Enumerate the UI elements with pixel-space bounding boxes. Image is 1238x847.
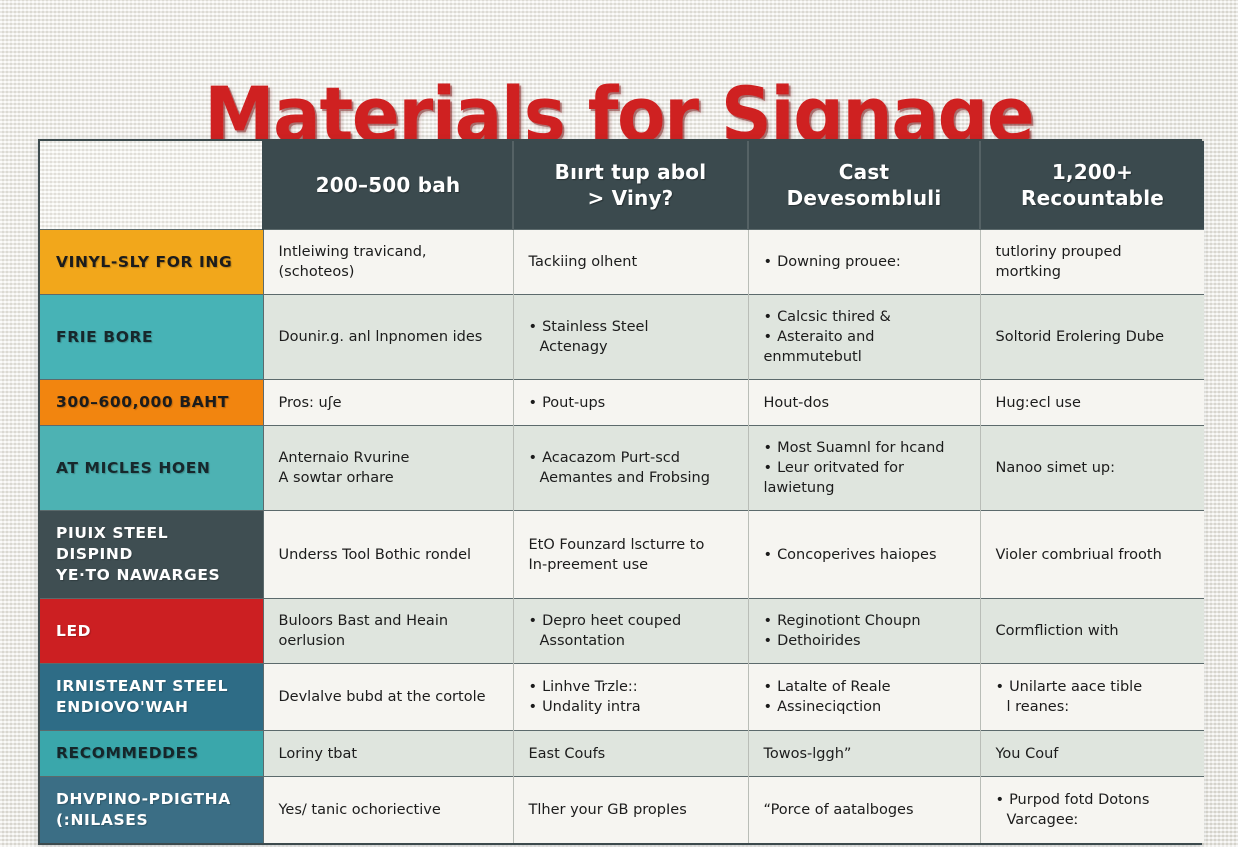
cell-text-line: Dethoirides xyxy=(764,631,965,651)
row-label-cell: LED xyxy=(40,599,263,664)
column-header-4-line-2: Recountable xyxy=(995,185,1190,211)
table-cell-r5-c1: Underss Tool Bothic rondel xyxy=(263,511,513,599)
column-header-2: Bıırt tup abol> Viny? xyxy=(513,141,748,230)
table-cell-r6-c3: Reginotiont ChoupnDethoirides xyxy=(748,599,980,664)
cell-text-line: Undality intra xyxy=(529,697,733,717)
cell-text-line: Loriny tbat xyxy=(279,744,498,764)
row-label-cell: VINYL-SLY FOR ING xyxy=(40,230,263,295)
cell-text-line: Buloors Bast and Heain xyxy=(279,611,498,631)
cell-text-line: Depro heet couped xyxy=(529,611,733,631)
cell-text-line: You Couf xyxy=(996,744,1190,764)
table-cell-r3-c3: Hout-dos xyxy=(748,380,980,426)
table-cell-r5-c3: Concoperives haiopes xyxy=(748,511,980,599)
column-header-4: 1,200+Recountable xyxy=(980,141,1204,230)
table-cell-r7-c3: Latalte of RealeAssineciqction xyxy=(748,664,980,731)
row-label-cell: FRIE BORE xyxy=(40,295,263,380)
row-label-line: ENDIOVO'WAH xyxy=(56,697,247,718)
table-row[interactable]: AT MICLES HOENAnternaio RvurineA sowtar … xyxy=(40,426,1204,511)
cell-text-line: East Coufs xyxy=(529,744,733,764)
table-cell-r8-c3: Towos-lggh” xyxy=(748,731,980,777)
table-row[interactable]: 300–600,000 BAHTPros: uʃePout-upsHout-do… xyxy=(40,380,1204,426)
column-header-3-line-1: Cast xyxy=(763,159,965,185)
cell-text-line: Intleiwing travicand, xyxy=(279,242,498,262)
cell-text-line: Calcsic thired & xyxy=(764,307,965,327)
cell-text-line: Іn-preement use xyxy=(529,555,733,575)
table-cell-r4-c3: Most Suamnl for hcandLeur oritvated for … xyxy=(748,426,980,511)
table-cell-r9-c2: Tlher your GB propIes xyxy=(513,777,748,844)
cell-text-line: Devlalve bubd at the cortole xyxy=(279,687,498,707)
table-cell-r6-c4: Cormfliction with xyxy=(980,599,1204,664)
cell-text-line: Aemantes and Frobsing xyxy=(529,468,733,488)
cell-text-line: EtO Founzard lscturre to xyxy=(529,535,733,555)
table-cell-r7-c4: Unilarte aace tiblel reanes: xyxy=(980,664,1204,731)
column-header-2-line-1: Bıırt tup abol xyxy=(528,159,733,185)
row-label-cell: IRNISTEANT STEELENDIOVO'WAH xyxy=(40,664,263,731)
table-cell-r1-c2: Tackiing olhent xyxy=(513,230,748,295)
table-cell-r5-c4: Violer combriual frooth xyxy=(980,511,1204,599)
table-cell-r2-c1: Dounir.g. anl lnpnomen ides xyxy=(263,295,513,380)
table-cell-r8-c4: You Couf xyxy=(980,731,1204,777)
row-label-line: (:NILASES xyxy=(56,810,247,831)
table-cell-r2-c2: Stainless SteelActenagy xyxy=(513,295,748,380)
column-header-1-line-1: 200–500 bah xyxy=(278,172,498,198)
table-cell-r7-c1: Devlalve bubd at the cortole xyxy=(263,664,513,731)
table-row[interactable]: IRNISTEANT STEELENDIOVO'WAHDevlalve bubd… xyxy=(40,664,1204,731)
cell-text-line: Purpod fotd Dotons xyxy=(996,790,1190,810)
table-cell-r7-c2: Linhve Trzle::Undality intra xyxy=(513,664,748,731)
table-cell-r3-c2: Pout-ups xyxy=(513,380,748,426)
row-label-cell: DHVPINO-PDIGTHA(:NILASES xyxy=(40,777,263,844)
cell-text-line: Acacazom Purt-scd xyxy=(529,448,733,468)
cell-text-line: Underss Tool Bothic rondel xyxy=(279,545,498,565)
cell-text-line: Actenagy xyxy=(529,337,733,357)
table-cell-r2-c4: Soltorid Erolering Dube xyxy=(980,295,1204,380)
table-corner-cell xyxy=(40,141,263,230)
cell-text-line: Linhve Trzle:: xyxy=(529,677,733,697)
materials-comparison-table-card: 200–500 bah Bıırt tup abol> Viny? CastDe… xyxy=(38,139,1202,845)
row-label-line: IRNISTEANT STEEL xyxy=(56,676,247,697)
cell-text-line: Assontation xyxy=(529,631,733,651)
cell-text-line: Anternaio Rvurine xyxy=(279,448,498,468)
table-cell-r8-c2: East Coufs xyxy=(513,731,748,777)
cell-text-line: Towos-lggh” xyxy=(764,744,965,764)
cell-text-line: Tackiing olhent xyxy=(529,252,733,272)
table-cell-r8-c1: Loriny tbat xyxy=(263,731,513,777)
row-label-line: RECOMMEDDES xyxy=(56,743,247,764)
cell-text-line: Yes/ tanic ochoriective xyxy=(279,800,498,820)
column-header-2-line-2: > Viny? xyxy=(528,185,733,211)
table-row[interactable]: DHVPINO-PDIGTHA(:NILASESYes/ tanic ochor… xyxy=(40,777,1204,844)
cell-text-line: Most Suamnl for hcand xyxy=(764,438,965,458)
table-row[interactable]: LEDBuloors Bast and HeainoerlusionDepro … xyxy=(40,599,1204,664)
column-header-3-line-2: Devesombluli xyxy=(763,185,965,211)
cell-text-line: Hug:ecl use xyxy=(996,393,1190,413)
table-body: VINYL-SLY FOR INGIntleiwing travicand,(s… xyxy=(40,230,1204,844)
cell-text-line: Assineciqction xyxy=(764,697,965,717)
table-cell-r9-c4: Purpod fotd DotonsVarcageeː xyxy=(980,777,1204,844)
cell-text-line: Tlher your GB propIes xyxy=(529,800,733,820)
cell-text-line: Soltorid Erolering Dube xyxy=(996,327,1190,347)
header-row: 200–500 bah Bıırt tup abol> Viny? CastDe… xyxy=(40,141,1204,230)
row-label-line: VINYL-SLY FOR ING xyxy=(56,252,247,273)
cell-text-line: Pros: uʃe xyxy=(279,393,498,413)
table-cell-r1-c4: tutloriny proupedmortking xyxy=(980,230,1204,295)
cell-text-line: Varcageeː xyxy=(996,810,1190,830)
cell-text-line: A sowtar orhare xyxy=(279,468,498,488)
slide-page: Materials for Signage 200–500 bah Bıırt … xyxy=(0,0,1238,847)
cell-text-line: oerlusion xyxy=(279,631,498,651)
table-cell-r5-c2: EtO Founzard lscturre toІn-preement use xyxy=(513,511,748,599)
cell-text-line: “Porce of aatalboges xyxy=(764,800,965,820)
cell-text-line: tutloriny prouped xyxy=(996,242,1190,262)
table-cell-r1-c1: Intleiwing travicand,(schoteos) xyxy=(263,230,513,295)
table-header: 200–500 bah Bıırt tup abol> Viny? CastDe… xyxy=(40,141,1204,230)
table-cell-r6-c1: Buloors Bast and Heainoerlusion xyxy=(263,599,513,664)
cell-text-line: (schoteos) xyxy=(279,262,498,282)
table-row[interactable]: PIUIX STEEL DISPINDYE·TO NAWARGESUnderss… xyxy=(40,511,1204,599)
cell-text-line: Leur oritvated for lawietung xyxy=(764,458,965,498)
cell-text-line: Reginotiont Choupn xyxy=(764,611,965,631)
cell-text-line: Nanoo simet up: xyxy=(996,458,1190,478)
row-label-line: AT MICLES HOEN xyxy=(56,458,247,479)
row-label-cell: 300–600,000 BAHT xyxy=(40,380,263,426)
table-cell-r4-c4: Nanoo simet up: xyxy=(980,426,1204,511)
materials-comparison-table: 200–500 bah Bıırt tup abol> Viny? CastDe… xyxy=(40,141,1204,843)
row-label-cell: AT MICLES HOEN xyxy=(40,426,263,511)
cell-text-line: mortking xyxy=(996,262,1190,282)
cell-text-line: Downing prouee: xyxy=(764,252,965,272)
table-cell-r3-c1: Pros: uʃe xyxy=(263,380,513,426)
cell-text-line: l reanes: xyxy=(996,697,1190,717)
table-cell-r2-c3: Calcsic thired &Asteraito and enmmutebut… xyxy=(748,295,980,380)
cell-text-line: Cormfliction with xyxy=(996,621,1190,641)
table-cell-r4-c1: Anternaio RvurineA sowtar orhare xyxy=(263,426,513,511)
cell-text-line: Pout-ups xyxy=(529,393,733,413)
column-header-1: 200–500 bah xyxy=(263,141,513,230)
table-cell-r4-c2: Acacazom Purt-scdAemantes and Frobsing xyxy=(513,426,748,511)
table-row[interactable]: RECOMMEDDESLoriny tbatEast CoufsTowos-lg… xyxy=(40,731,1204,777)
row-label-line: YE·TO NAWARGES xyxy=(56,565,247,586)
table-cell-r3-c4: Hug:ecl use xyxy=(980,380,1204,426)
row-label-line: PIUIX STEEL DISPIND xyxy=(56,523,247,565)
cell-text-line: Violer combriual frooth xyxy=(996,545,1190,565)
row-label-cell: RECOMMEDDES xyxy=(40,731,263,777)
row-label-line: 300–600,000 BAHT xyxy=(56,392,247,413)
cell-text-line: Stainless Steel xyxy=(529,317,733,337)
row-label-line: DHVPINO-PDIGTHA xyxy=(56,789,247,810)
table-row[interactable]: VINYL-SLY FOR INGIntleiwing travicand,(s… xyxy=(40,230,1204,295)
column-header-3: CastDevesombluli xyxy=(748,141,980,230)
column-header-4-line-1: 1,200+ xyxy=(995,159,1190,185)
table-cell-r1-c3: Downing prouee: xyxy=(748,230,980,295)
cell-text-line: Unilarte aace tible xyxy=(996,677,1190,697)
cell-text-line: Latalte of Reale xyxy=(764,677,965,697)
row-label-line: FRIE BORE xyxy=(56,327,247,348)
table-cell-r9-c1: Yes/ tanic ochoriective xyxy=(263,777,513,844)
cell-text-line: Concoperives haiopes xyxy=(764,545,965,565)
cell-text-line: Dounir.g. anl lnpnomen ides xyxy=(279,327,498,347)
row-label-line: LED xyxy=(56,621,247,642)
table-row[interactable]: FRIE BOREDounir.g. anl lnpnomen idesStai… xyxy=(40,295,1204,380)
table-cell-r9-c3: “Porce of aatalboges xyxy=(748,777,980,844)
cell-text-line: Asteraito and enmmutebutl xyxy=(764,327,965,367)
row-label-cell: PIUIX STEEL DISPINDYE·TO NAWARGES xyxy=(40,511,263,599)
cell-text-line: Hout-dos xyxy=(764,393,965,413)
table-cell-r6-c2: Depro heet coupedAssontation xyxy=(513,599,748,664)
